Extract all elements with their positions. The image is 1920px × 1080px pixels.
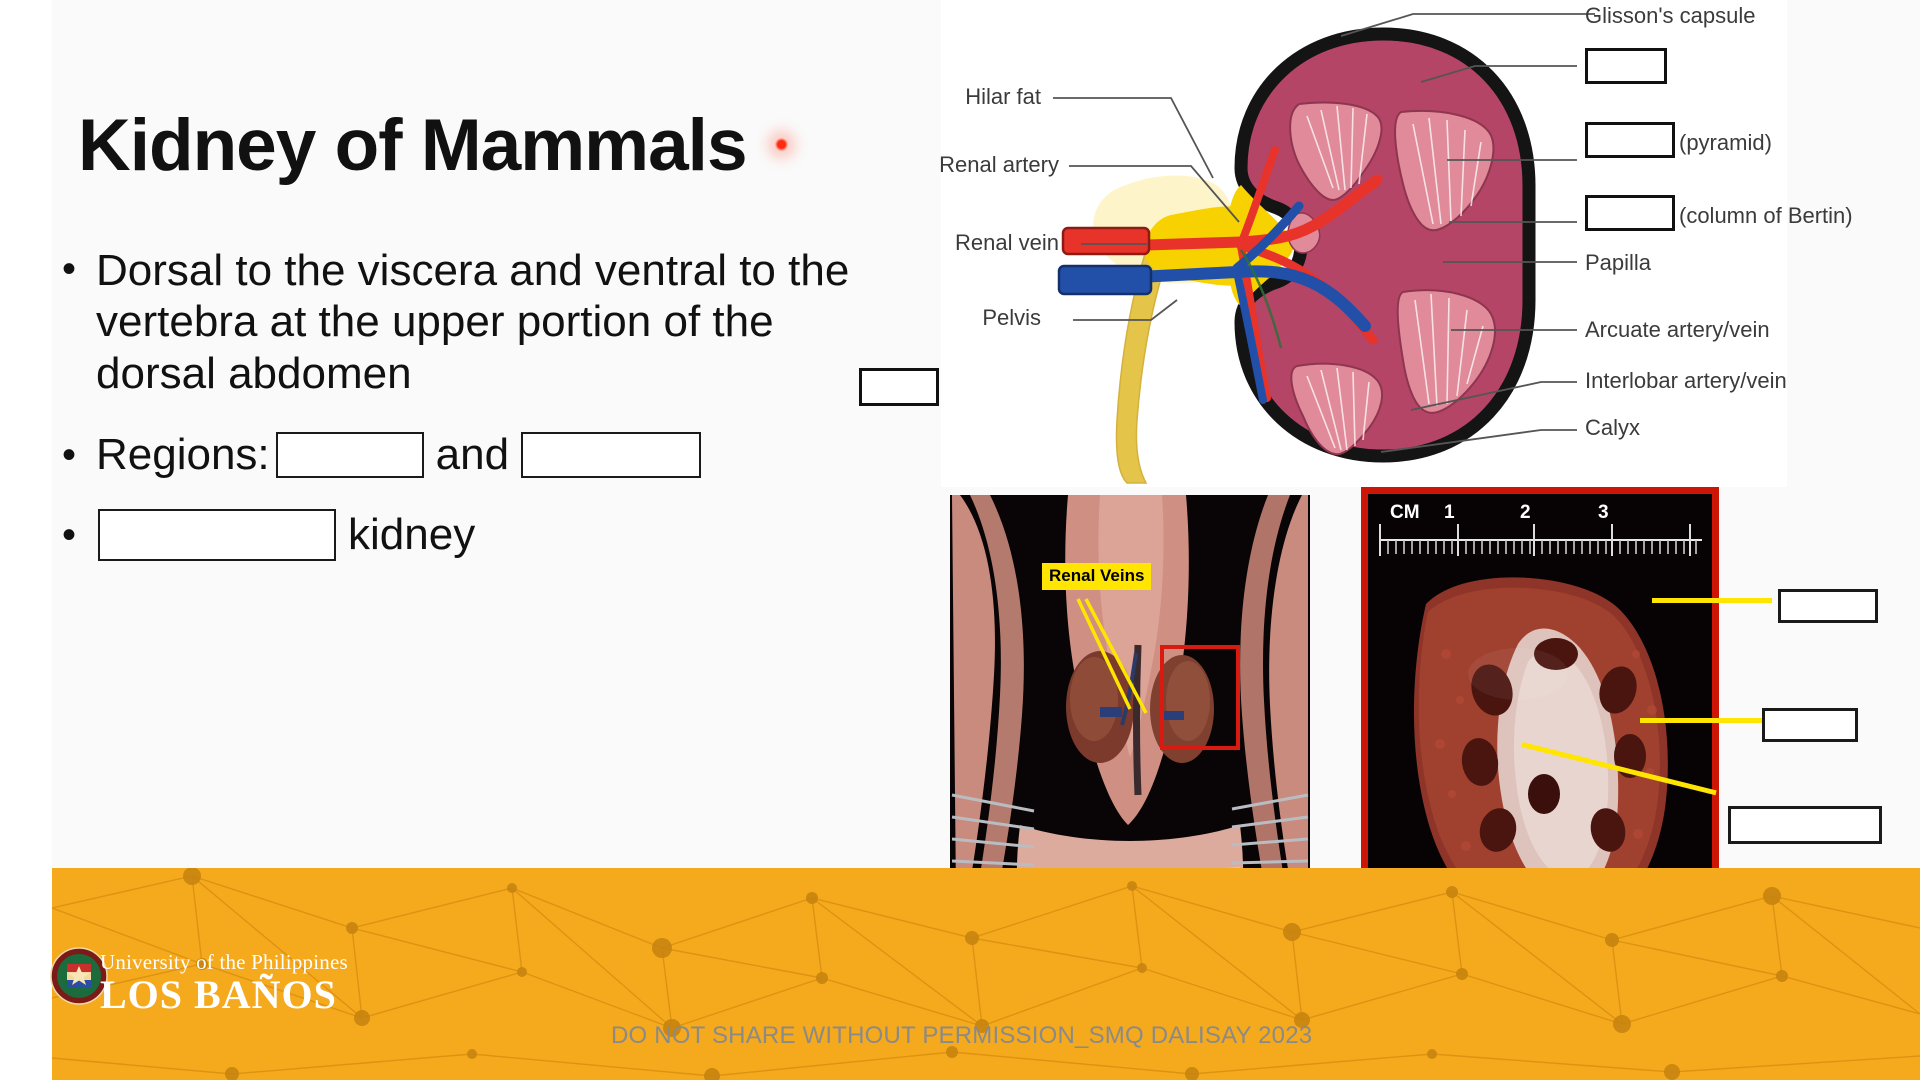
- blank-region-1[interactable]: [276, 432, 424, 478]
- bullet-text-2: Regions: and: [96, 429, 862, 480]
- regions-conjunction: and: [436, 429, 509, 480]
- page-title: Kidney of Mammals: [78, 104, 747, 187]
- ruler-label-cm: CM: [1390, 502, 1420, 524]
- ruler-tick-1: 1: [1444, 502, 1455, 524]
- diagram-blank-bertin[interactable]: [1585, 195, 1675, 231]
- laser-pointer-dot: [775, 138, 788, 151]
- uplb-wordmark: University of the Philippines LOS BAÑOS: [100, 952, 348, 1015]
- bullet-text-1: Dorsal to the viscera and ventral to the…: [96, 245, 862, 399]
- diagram-suffix-bertin: (column of Bertin): [1679, 203, 1853, 229]
- diagram-suffix-pyramid: (pyramid): [1679, 130, 1772, 156]
- diagram-label-calyx: Calyx: [1585, 415, 1640, 441]
- regions-label: Regions:: [96, 429, 270, 480]
- uplb-line-university: University of the Philippines: [100, 952, 348, 973]
- diagram-label-papilla: Papilla: [1585, 250, 1651, 276]
- diagram-label-arcuate: Arcuate artery/vein: [1585, 317, 1770, 343]
- blank-kidney-type[interactable]: [98, 509, 336, 561]
- diagram-blank-pyramid[interactable]: [1585, 122, 1675, 158]
- ruler-scale: CM 1 2 3: [1368, 502, 1712, 548]
- highlight-box: [1160, 645, 1240, 750]
- renal-veins-tag: Renal Veins: [1042, 563, 1151, 590]
- diagram-label-renal-artery: Renal artery: [811, 152, 1059, 178]
- bullet-text-3: kidney: [96, 509, 862, 561]
- footer-left-cap: [0, 868, 52, 1080]
- answer-box-2[interactable]: [1762, 708, 1858, 742]
- diagram-label-glissons-capsule: Glisson's capsule: [1585, 3, 1756, 29]
- answer-box-3[interactable]: [1728, 806, 1882, 844]
- presentation-slide: Kidney of Mammals • Dorsal to the viscer…: [0, 0, 1920, 1080]
- answer-box-1[interactable]: [1778, 589, 1878, 623]
- blank-region-2[interactable]: [521, 432, 701, 478]
- footer-watermark: DO NOT SHARE WITHOUT PERMISSION_SMQ DALI…: [611, 1022, 1312, 1050]
- bullet-list: • Dorsal to the viscera and ventral to t…: [62, 245, 862, 561]
- diagram-blank-ureter[interactable]: [859, 368, 939, 406]
- bullet-marker: •: [62, 431, 96, 479]
- kidney-anatomy-diagram: Hilar fat Renal artery Renal vein Pelvis…: [941, 0, 1787, 487]
- uplb-line-losbanos: LOS BAÑOS: [100, 975, 348, 1015]
- list-item: • Dorsal to the viscera and ventral to t…: [62, 245, 862, 399]
- diagram-label-pelvis: Pelvis: [841, 305, 1041, 331]
- list-item: • Regions: and: [62, 429, 862, 480]
- diagram-blank-cortex[interactable]: [1585, 48, 1667, 84]
- pointer-line-1: [1652, 598, 1772, 603]
- ruler-tick-3: 3: [1598, 502, 1609, 524]
- diagram-label-hilar-fat: Hilar fat: [841, 84, 1041, 110]
- list-item: • kidney: [62, 509, 862, 561]
- diagram-label-renal-vein: Renal vein: [811, 230, 1059, 256]
- bullet-marker: •: [62, 511, 96, 559]
- ruler-tick-2: 2: [1520, 502, 1531, 524]
- kidney-word: kidney: [348, 509, 475, 560]
- bullet-marker: •: [62, 245, 96, 293]
- diagram-label-interlobar: Interlobar artery/vein: [1585, 368, 1787, 394]
- pointer-line-2: [1640, 718, 1764, 723]
